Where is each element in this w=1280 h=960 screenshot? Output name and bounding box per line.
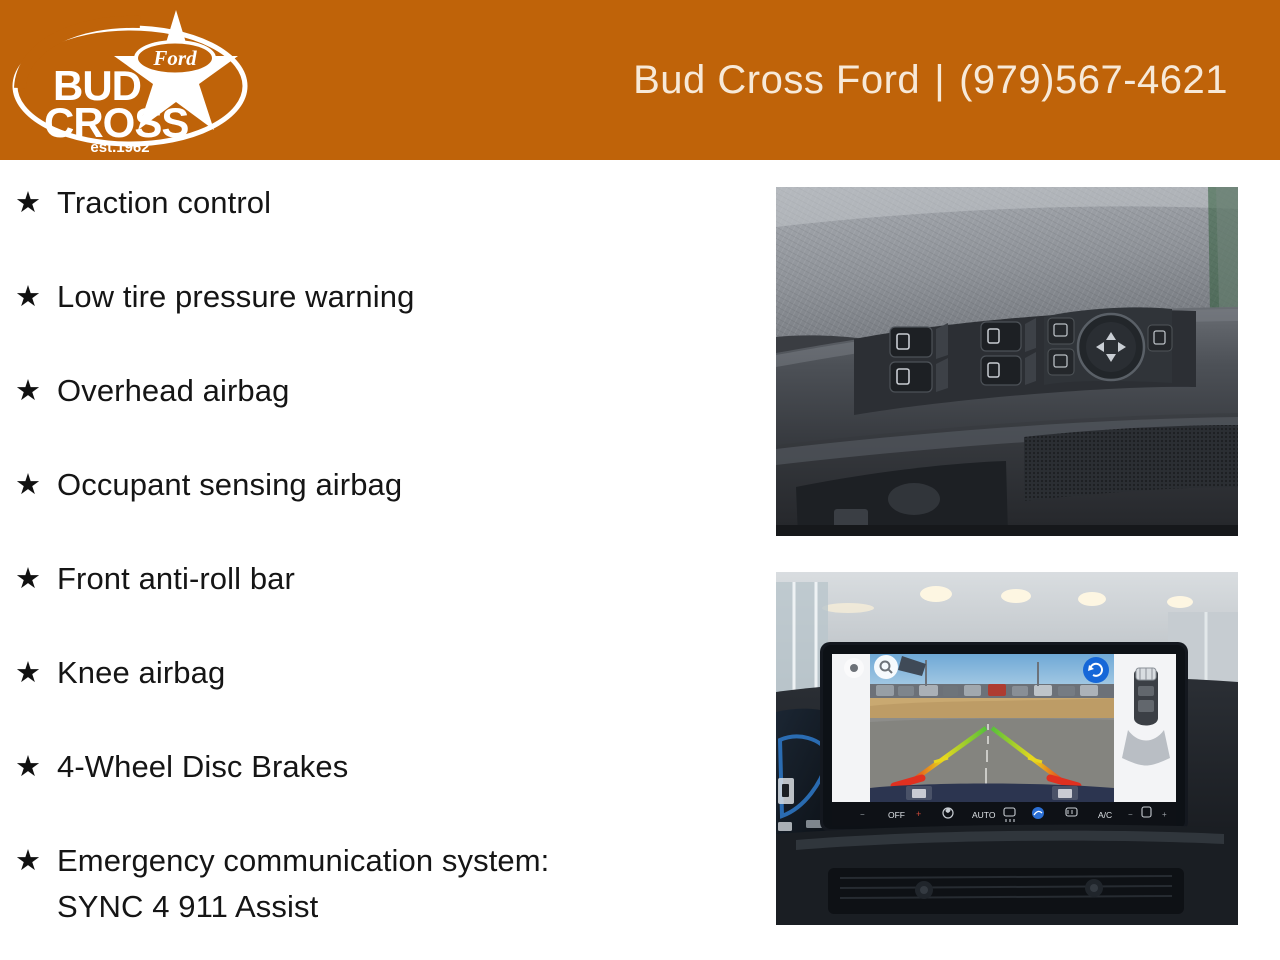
list-item: ★ Low tire pressure warning <box>12 274 752 368</box>
svg-text:−: − <box>1128 810 1133 819</box>
page-header: Ford BUD CROSS est.1962 Bud Cross Ford |… <box>0 0 1280 160</box>
feature-label: 4-Wheel Disc Brakes <box>57 744 348 790</box>
camera-view-toggle-icon <box>1083 657 1109 683</box>
list-item: ★ Knee airbag <box>12 650 752 744</box>
star-icon: ★ <box>12 650 57 696</box>
slide-root: Ford BUD CROSS est.1962 Bud Cross Ford |… <box>0 0 1280 960</box>
feature-list: ★ Traction control ★ Low tire pressure w… <box>12 180 752 930</box>
star-icon: ★ <box>12 462 57 508</box>
dealer-phone[interactable]: (979)567-4621 <box>959 58 1228 103</box>
feature-label: Low tire pressure warning <box>57 274 414 320</box>
svg-text:−: − <box>860 810 865 819</box>
list-item: ★ Front anti-roll bar <box>12 556 752 650</box>
list-item: ★ 4-Wheel Disc Brakes <box>12 744 752 838</box>
header-contact: Bud Cross Ford | (979)567-4621 <box>633 0 1228 160</box>
vehicle-topdown-diagram <box>1116 654 1176 802</box>
feature-label: Traction control <box>57 180 271 226</box>
sync4-rear-camera-photo[interactable]: − OFF + AUTO <box>776 572 1238 925</box>
star-icon: ★ <box>12 368 57 414</box>
climate-ac-label: A/C <box>1098 810 1112 820</box>
star-icon: ★ <box>12 556 57 602</box>
bud-cross-ford-logo-icon: Ford BUD CROSS est.1962 <box>8 4 253 156</box>
list-item: ★ Overhead airbag <box>12 368 752 462</box>
dealer-name: Bud Cross Ford <box>633 58 920 103</box>
climate-control-bar: − OFF + AUTO <box>832 802 1176 826</box>
camera-zoom-icon <box>874 655 898 679</box>
star-icon: ★ <box>12 274 57 320</box>
list-item: ★ Traction control <box>12 180 752 274</box>
climate-auto-label: AUTO <box>972 810 996 820</box>
feature-label: Overhead airbag <box>57 368 289 414</box>
svg-text:Ford: Ford <box>152 46 197 70</box>
feature-label: Emergency communication system: SYNC 4 9… <box>57 838 549 930</box>
feature-label: Front anti-roll bar <box>57 556 295 602</box>
feature-label: Knee airbag <box>57 650 225 696</box>
star-icon: ★ <box>12 744 57 790</box>
infotainment-image: − OFF + AUTO <box>776 572 1238 925</box>
svg-text:+: + <box>1162 810 1167 819</box>
sync4-touchscreen: − OFF + AUTO <box>820 642 1188 832</box>
header-separator: | <box>920 58 959 103</box>
list-item: ★ Emergency communication system: SYNC 4… <box>12 838 752 930</box>
svg-text:est.1962: est.1962 <box>90 139 149 156</box>
driver-door-panel-photo[interactable] <box>776 187 1238 536</box>
star-icon: ★ <box>12 180 57 226</box>
feature-label: Occupant sensing airbag <box>57 462 402 508</box>
airflow-icon <box>1032 807 1044 819</box>
dealer-logo[interactable]: Ford BUD CROSS est.1962 <box>8 4 253 156</box>
door-panel-image <box>776 187 1238 536</box>
star-icon: ★ <box>12 838 57 884</box>
svg-text:+: + <box>916 809 921 819</box>
list-item: ★ Occupant sensing airbag <box>12 462 752 556</box>
climate-off-label: OFF <box>888 810 905 820</box>
